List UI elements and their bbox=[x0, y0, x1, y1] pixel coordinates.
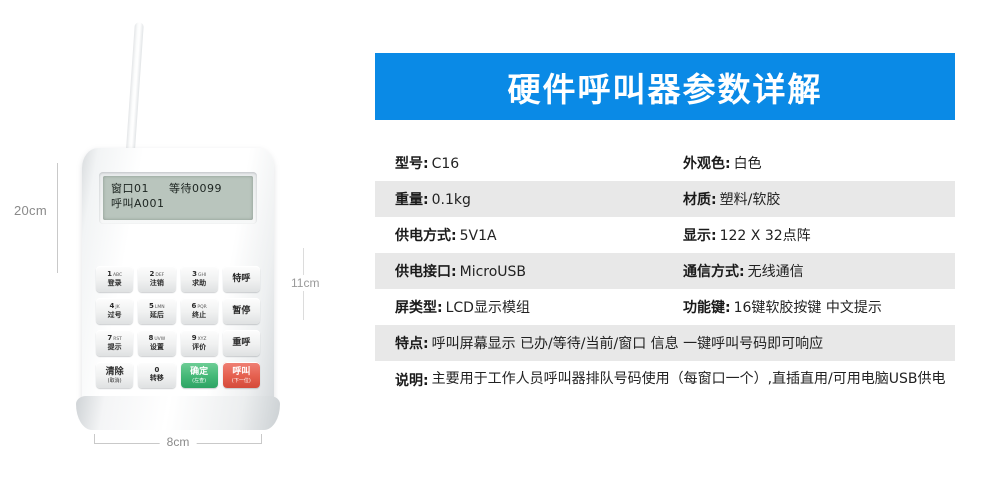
key-重呼[interactable]: 重呼 bbox=[223, 330, 260, 356]
spec-left-label: 型号: bbox=[395, 153, 429, 173]
key-letters: GHI bbox=[198, 272, 206, 279]
key-label: 暂停 bbox=[232, 306, 250, 317]
feature-cell: 特点:呼叫屏幕显示 已办/等待/当前/窗口 信息 一键呼叫号码即可响应 bbox=[375, 333, 955, 353]
spec-left-value: 5V1A bbox=[460, 228, 497, 244]
lcd-bezel: 窗口01 等待0099 呼叫A001 bbox=[99, 172, 257, 224]
spec-left-cell: 供电接口:MicroUSB bbox=[375, 261, 680, 281]
key-9[interactable]: 9XYZ评价 bbox=[181, 330, 218, 356]
spec-right-value: 塑料/软胶 bbox=[720, 189, 781, 209]
key-label: 重呼 bbox=[232, 338, 250, 349]
key-digit-row: 3GHI bbox=[192, 271, 206, 279]
spec-row: 供电方式:5V1A显示:122 X 32点阵 bbox=[375, 217, 955, 253]
key-sublabel: (左查) bbox=[192, 378, 206, 384]
spec-left-label: 供电接口: bbox=[395, 261, 457, 281]
key-8[interactable]: 8UVW设置 bbox=[138, 330, 175, 356]
key-0[interactable]: 0转移 bbox=[138, 362, 175, 388]
spec-left-cell: 屏类型:LCD显示模组 bbox=[375, 297, 680, 317]
lcd-line-2: 呼叫A001 bbox=[111, 196, 245, 211]
spec-rows: 型号:C16外观色:白色重量:0.1kg材质:塑料/软胶供电方式:5V1A显示:… bbox=[375, 145, 955, 413]
key-letters: XYZ bbox=[198, 336, 207, 343]
key-letters: JK bbox=[115, 304, 119, 311]
key-1[interactable]: 1ABC登录 bbox=[96, 266, 133, 292]
banner: 硬件呼叫器参数详解 bbox=[375, 53, 955, 120]
key-3[interactable]: 3GHI求助 bbox=[181, 266, 218, 292]
key-label: 登录 bbox=[108, 279, 122, 288]
feature-value: 呼叫屏幕显示 已办/等待/当前/窗口 信息 一键呼叫号码即可响应 bbox=[432, 333, 824, 353]
lcd-waiting-text: 等待0099 bbox=[169, 181, 222, 196]
key-digit-row: 8UVW bbox=[149, 335, 166, 343]
key-5[interactable]: 5LMN延后 bbox=[138, 298, 175, 324]
key-label: 特呼 bbox=[232, 274, 250, 285]
spec-right-label: 材质: bbox=[683, 189, 717, 209]
caller-device: 窗口01 等待0099 呼叫A001 1ABC登录2DEF注销3GHI求助特呼4… bbox=[82, 148, 274, 428]
key-暂停[interactable]: 暂停 bbox=[223, 298, 260, 324]
lcd-line-1: 窗口01 等待0099 bbox=[111, 181, 245, 196]
key-特呼[interactable]: 特呼 bbox=[223, 266, 260, 292]
spec-right-label: 通信方式: bbox=[683, 261, 745, 281]
width-dimension-label: 8cm bbox=[160, 435, 197, 449]
key-label: 延后 bbox=[150, 311, 164, 320]
spec-right-cell: 外观色:白色 bbox=[680, 153, 955, 173]
key-label: 确定 bbox=[190, 367, 208, 378]
note-value: 主要用于工作人员呼叫器排队号码使用（每窗口一个）,直插直用/可用电脑USB供电 bbox=[432, 370, 946, 389]
spec-left-cell: 重量:0.1kg bbox=[375, 189, 680, 209]
key-digit-row: 5LMN bbox=[149, 303, 165, 311]
spec-left-cell: 型号:C16 bbox=[375, 153, 680, 173]
spec-left-value: C16 bbox=[432, 156, 460, 172]
note-cell: 说明:主要用于工作人员呼叫器排队号码使用（每窗口一个）,直插直用/可用电脑USB… bbox=[375, 370, 955, 390]
key-letters: RST bbox=[113, 336, 122, 343]
spec-right-cell: 材质:塑料/软胶 bbox=[680, 189, 955, 209]
key-4[interactable]: 4JK过号 bbox=[96, 298, 133, 324]
key-digit: 7 bbox=[107, 335, 112, 342]
key-letters: PQR bbox=[197, 304, 206, 311]
key-digit: 5 bbox=[149, 303, 154, 310]
spec-right-value: 16键软胶按键 中文提示 bbox=[734, 297, 882, 317]
spec-right-cell: 功能键:16键软胶按键 中文提示 bbox=[680, 297, 955, 317]
spec-row: 屏类型:LCD显示模组功能键:16键软胶按键 中文提示 bbox=[375, 289, 955, 325]
key-digit: 9 bbox=[192, 335, 197, 342]
key-7[interactable]: 7RST提示 bbox=[96, 330, 133, 356]
device-body: 窗口01 等待0099 呼叫A001 1ABC登录2DEF注销3GHI求助特呼4… bbox=[82, 148, 274, 420]
key-清除[interactable]: 清除(取消) bbox=[96, 362, 133, 388]
key-digit-row: 6PQR bbox=[191, 303, 206, 311]
key-呼叫[interactable]: 呼叫(下一位) bbox=[223, 362, 260, 388]
height-dimension-line bbox=[57, 163, 58, 273]
key-digit-row: 7RST bbox=[107, 335, 122, 343]
key-sublabel: (下一位) bbox=[232, 378, 251, 384]
key-2[interactable]: 2DEF注销 bbox=[138, 266, 175, 292]
spec-right-label: 显示: bbox=[683, 225, 717, 245]
spec-left-label: 重量: bbox=[395, 189, 429, 209]
spec-left-cell: 供电方式:5V1A bbox=[375, 225, 680, 245]
key-digit: 2 bbox=[149, 271, 154, 278]
key-digit-row: 9XYZ bbox=[192, 335, 207, 343]
product-photo-panel: 20cm 11cm 窗口01 等待0099 呼叫A001 1ABC登录2DEF注… bbox=[0, 0, 360, 492]
height-dimension-label: 20cm bbox=[14, 203, 47, 218]
spec-right-label: 功能键: bbox=[683, 297, 731, 317]
key-letters: ABC bbox=[113, 272, 122, 279]
key-digit-row: 2DEF bbox=[149, 271, 164, 279]
key-label: 过号 bbox=[108, 311, 122, 320]
spec-right-value: 无线通信 bbox=[748, 261, 804, 281]
lcd-window-text: 窗口01 bbox=[111, 181, 149, 196]
spec-left-value: 0.1kg bbox=[432, 192, 471, 208]
key-digit: 0 bbox=[154, 367, 159, 374]
spec-left-label: 供电方式: bbox=[395, 225, 457, 245]
spec-right-value: 白色 bbox=[734, 153, 762, 173]
spec-panel: 硬件呼叫器参数详解 型号:C16外观色:白色重量:0.1kg材质:塑料/软胶供电… bbox=[375, 0, 955, 492]
spec-right-cell: 显示:122 X 32点阵 bbox=[680, 225, 955, 245]
antenna bbox=[125, 22, 144, 164]
spec-row: 型号:C16外观色:白色 bbox=[375, 145, 955, 181]
device-base bbox=[76, 396, 280, 430]
note-label: 说明: bbox=[395, 370, 429, 390]
key-label: 转移 bbox=[150, 374, 164, 383]
key-label: 注销 bbox=[150, 279, 164, 288]
key-letters: DEF bbox=[155, 272, 164, 279]
spec-left-label: 屏类型: bbox=[395, 297, 443, 317]
key-digit-row: 1ABC bbox=[107, 271, 122, 279]
feature-row: 特点:呼叫屏幕显示 已办/等待/当前/窗口 信息 一键呼叫号码即可响应 bbox=[375, 325, 955, 361]
key-digit: 6 bbox=[191, 303, 196, 310]
key-label: 求助 bbox=[192, 279, 206, 288]
lcd-calling-text: 呼叫A001 bbox=[111, 196, 165, 211]
key-label: 清除 bbox=[106, 367, 124, 378]
spec-row: 供电接口:MicroUSB通信方式:无线通信 bbox=[375, 253, 955, 289]
key-digit-row: 0 bbox=[154, 367, 159, 374]
key-确定[interactable]: 确定(左查) bbox=[181, 362, 218, 388]
key-digit: 8 bbox=[149, 335, 154, 342]
depth-dimension-label: 11cm bbox=[288, 275, 322, 291]
key-label: 呼叫 bbox=[232, 367, 250, 378]
key-6[interactable]: 6PQR终止 bbox=[181, 298, 218, 324]
key-label: 提示 bbox=[108, 343, 122, 352]
spec-right-cell: 通信方式:无线通信 bbox=[680, 261, 955, 281]
note-row: 说明:主要用于工作人员呼叫器排队号码使用（每窗口一个）,直插直用/可用电脑USB… bbox=[375, 361, 955, 413]
spec-left-value: MicroUSB bbox=[460, 264, 526, 280]
key-letters: LMN bbox=[155, 304, 165, 311]
key-sublabel: (取消) bbox=[108, 378, 122, 384]
key-label: 评价 bbox=[192, 343, 206, 352]
key-letters: UVW bbox=[154, 336, 165, 343]
banner-title: 硬件呼叫器参数详解 bbox=[508, 63, 823, 111]
spec-row: 重量:0.1kg材质:塑料/软胶 bbox=[375, 181, 955, 217]
key-digit-row: 4JK bbox=[110, 303, 120, 311]
key-digit: 1 bbox=[107, 271, 112, 278]
key-label: 终止 bbox=[192, 311, 206, 320]
key-digit: 4 bbox=[110, 303, 115, 310]
spec-right-value: 122 X 32点阵 bbox=[720, 225, 811, 245]
feature-label: 特点: bbox=[395, 333, 429, 353]
width-dimension-line: 8cm bbox=[94, 434, 262, 448]
spec-right-label: 外观色: bbox=[683, 153, 731, 173]
lcd-screen: 窗口01 等待0099 呼叫A001 bbox=[103, 176, 253, 220]
key-digit: 3 bbox=[192, 271, 197, 278]
spec-left-value: LCD显示模组 bbox=[446, 297, 530, 317]
keypad: 1ABC登录2DEF注销3GHI求助特呼4JK过号5LMN延后6PQR终止暂停7… bbox=[96, 266, 260, 388]
key-label: 设置 bbox=[150, 343, 164, 352]
